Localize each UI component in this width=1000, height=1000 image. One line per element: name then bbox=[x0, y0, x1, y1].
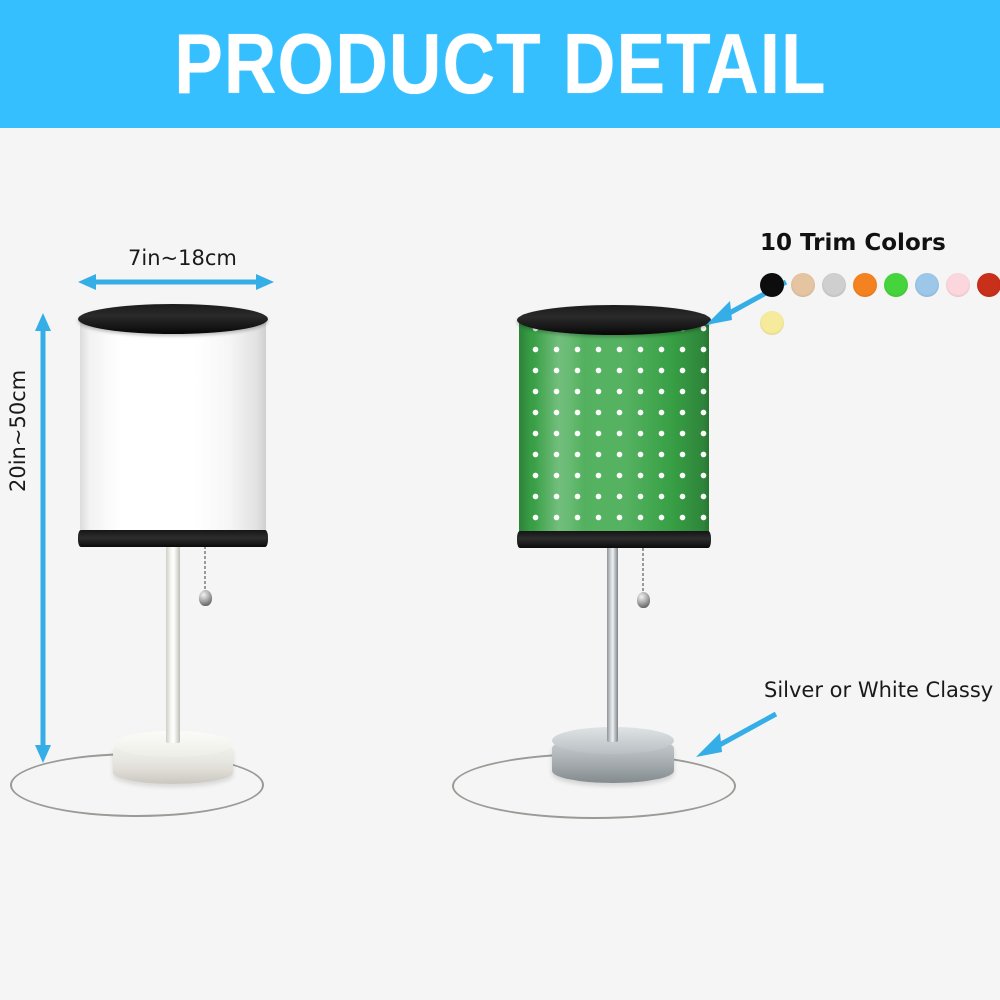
height-dimension-label: 20in~50cm bbox=[6, 370, 30, 492]
trim-swatch-tan[interactable] bbox=[791, 273, 815, 297]
green-shade-bottom-trim bbox=[517, 531, 711, 548]
product-illustration-stage: Your + Design 7in~18cm 20in~50cm Silver … bbox=[0, 128, 1000, 1000]
white-shade-surface bbox=[80, 313, 266, 543]
trim-swatch-light-blue[interactable] bbox=[915, 273, 939, 297]
white-shade-bottom-trim bbox=[78, 530, 268, 547]
height-dimension-arrow bbox=[32, 313, 54, 763]
polka-dot-pattern bbox=[519, 314, 709, 544]
green-lamp-pull-chain bbox=[642, 548, 644, 596]
trim-colors-title: 10 Trim Colors bbox=[760, 230, 946, 256]
white-lamp-chain-knob bbox=[199, 590, 212, 606]
white-shade-gloss bbox=[95, 313, 143, 543]
base-finish-callout-arrow bbox=[690, 708, 780, 760]
trim-swatch-light-gray[interactable] bbox=[822, 273, 846, 297]
width-dimension-label: 7in~18cm bbox=[128, 246, 237, 270]
green-lamp-pole bbox=[607, 546, 618, 742]
width-dimension-arrow bbox=[78, 271, 274, 293]
banner-title: PRODUCT DETAIL bbox=[174, 22, 826, 107]
green-lamp-chain-knob bbox=[637, 592, 650, 608]
green-shade-surface: Your + Design bbox=[519, 314, 709, 544]
trim-swatch-pink[interactable] bbox=[946, 273, 970, 297]
trim-colors-swatch-grid[interactable] bbox=[760, 273, 1000, 349]
trim-swatch-black[interactable] bbox=[760, 273, 784, 297]
trim-swatch-orange[interactable] bbox=[853, 273, 877, 297]
product-detail-banner: PRODUCT DETAIL bbox=[0, 0, 1000, 128]
trim-swatch-green[interactable] bbox=[884, 273, 908, 297]
base-finish-label: Silver or White Classy bbox=[764, 678, 993, 702]
white-lamp-shade bbox=[80, 313, 266, 543]
white-lamp-pull-chain bbox=[204, 546, 206, 594]
trim-swatch-pale-yellow[interactable] bbox=[760, 311, 784, 335]
white-shade-top-trim bbox=[78, 304, 268, 334]
white-lamp-pole bbox=[166, 543, 180, 743]
green-shade-top-trim bbox=[517, 305, 711, 335]
trim-swatch-dark-red[interactable] bbox=[977, 273, 1000, 297]
green-lamp-shade: Your + Design bbox=[519, 314, 709, 544]
